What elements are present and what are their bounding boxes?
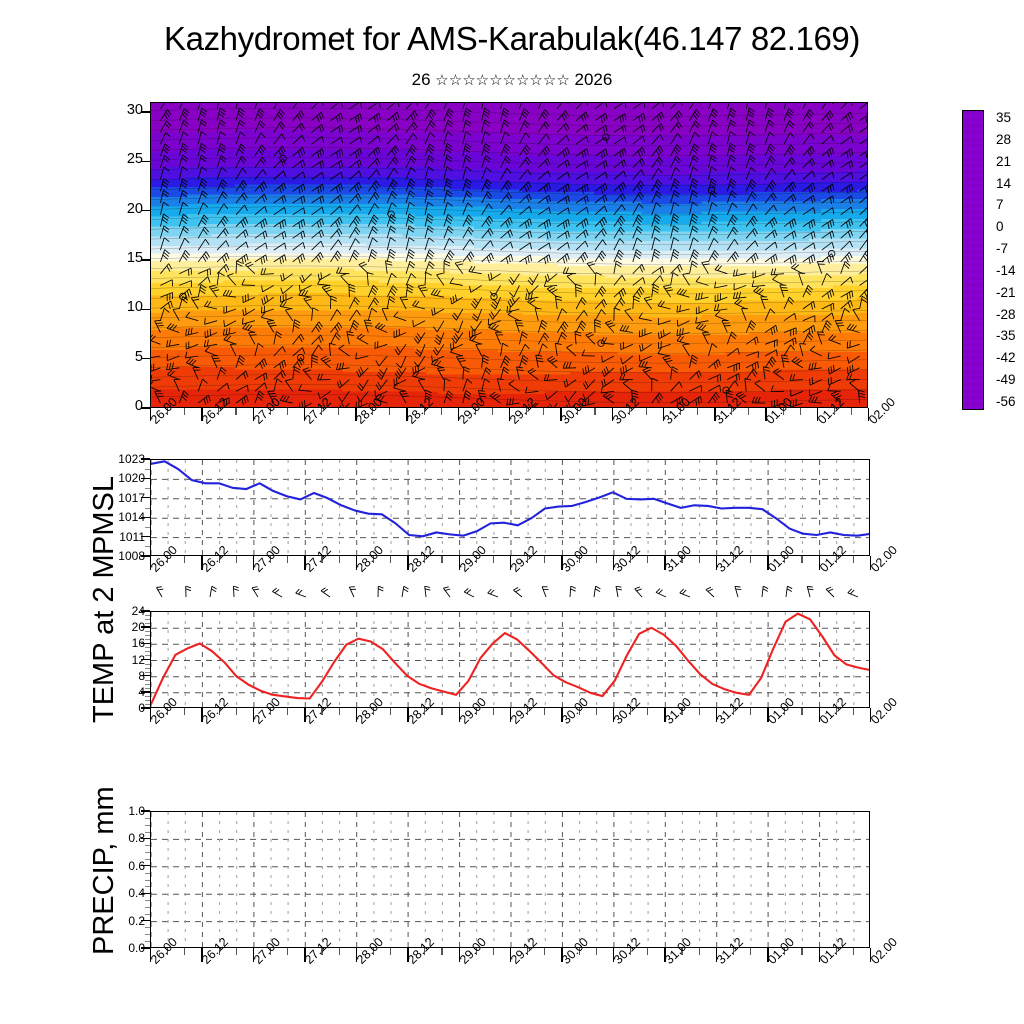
temp-2m-y-tick-minor-tick (145, 647, 150, 648)
colorbar-gradient (962, 110, 984, 410)
temp-2m-y-tick-minor-tick (145, 655, 150, 656)
precip-y-tick-minor-tick (145, 852, 150, 853)
precip-y-tick-minor-tick (145, 934, 150, 935)
precip-y-tick-minor-tick (145, 900, 150, 901)
temp-2m-y-tick-minor-tick (145, 680, 150, 681)
pmsl-y-tick-minor-tick (145, 508, 150, 509)
precip-y-tick-label: 0.8 (85, 832, 145, 844)
temp-2m-y-tick-minor-tick (145, 664, 150, 665)
temp-2m-y-tick-minor-tick (145, 631, 150, 632)
cross-section-x-tick-label: 02.00 (866, 395, 898, 427)
precip-y-tick-minor-tick (145, 941, 150, 942)
pmsl-y-tick-minor-tick (145, 469, 150, 470)
temp-2m-y-tick-minor-tick (145, 651, 150, 652)
temp-2m-y-tick-minor-tick (145, 672, 150, 673)
pmsl-panel (150, 459, 870, 556)
precip-x-tick-minor-tick (647, 948, 648, 955)
temp-panel-wind-barbs (150, 586, 870, 608)
cross-section-x-tick-minor-tick (235, 408, 236, 415)
precip-x-tick-minor-tick (853, 948, 854, 955)
pmsl-x-tick-minor-tick (596, 556, 597, 563)
precip-x-tick-minor-tick (390, 948, 391, 955)
cross-section-y-tick-label: 10 (83, 301, 143, 313)
precip-x-tick-minor-tick (750, 948, 751, 955)
pmsl-y-tick-minor-tick (145, 488, 150, 489)
precip-y-tick-minor-tick (145, 886, 150, 887)
temp-2m-x-tick-minor-tick (801, 708, 802, 715)
precip-y-tick-minor-tick (145, 880, 150, 881)
temp-2m-y-tick-minor-tick (145, 700, 150, 701)
colorbar-tick-5: 0 (996, 219, 1004, 234)
pmsl-y-tick-minor-tick (145, 527, 150, 528)
precip-y-tick-label: 0.0 (85, 942, 145, 954)
pmsl-y-tick-label: 1014 (85, 511, 145, 523)
cross-section-x-tick-minor-tick (697, 408, 698, 415)
temp-2m-x-tick-minor-tick (544, 708, 545, 715)
temp-2m-y-tick-label: 0 (85, 702, 145, 714)
precip-x-tick-minor-tick (801, 948, 802, 955)
precip-y-tick-label: 0.4 (85, 887, 145, 899)
cross-section-x-tick-minor-tick (851, 408, 852, 415)
pmsl-y-tick-label: 1017 (85, 492, 145, 504)
pmsl-x-tick-minor-tick (287, 556, 288, 563)
precip-x-tick-minor-tick (544, 948, 545, 955)
pmsl-x-tick-minor-tick (853, 556, 854, 563)
precip-x-tick-minor-tick (493, 948, 494, 955)
colorbar-tick-10: -35 (996, 328, 1016, 343)
pmsl-x-tick-minor-tick (801, 556, 802, 563)
colorbar-tick-11: -42 (996, 350, 1016, 365)
cross-section-y-tick-label: 15 (83, 252, 143, 264)
pmsl-x-tick-minor-tick (647, 556, 648, 563)
precip-x-tick-minor-tick (699, 948, 700, 955)
precip-y-tick-minor-tick (145, 907, 150, 908)
pmsl-y-tick-label: 1011 (85, 531, 145, 543)
cross-section-x-tick-minor-tick (184, 408, 185, 415)
temp-2m-x-tick-minor-tick (441, 708, 442, 715)
temp-2m-x-tick-minor-tick (853, 708, 854, 715)
temp-2m-x-tick-minor-tick (647, 708, 648, 715)
temp-panel (150, 611, 870, 708)
colorbar-tick-2: 21 (996, 154, 1011, 169)
temp-2m-x-tick-minor-tick (339, 708, 340, 715)
colorbar-band-overlay (963, 111, 983, 409)
precip-x-tick-minor-tick (339, 948, 340, 955)
precip-y-tick-minor-tick (145, 845, 150, 846)
precip-y-tick-minor-tick (145, 873, 150, 874)
forecast-meteogram-page: Kazhydromet for AMS-Karabulak(46.147 82.… (0, 0, 1024, 1024)
temp-2m-y-tick-minor-tick (145, 684, 150, 685)
temp-2m-y-tick-minor-tick (145, 688, 150, 689)
pmsl-y-tick-label: 1020 (85, 472, 145, 484)
cross-section-x-tick-minor-tick (441, 408, 442, 415)
precip-y-tick-label: 1.0 (85, 805, 145, 817)
colorbar-tick-6: -7 (996, 241, 1008, 256)
temp-2m-x-tick-minor-tick (699, 708, 700, 715)
colorbar-tick-8: -21 (996, 285, 1016, 300)
cross-section-x-tick-minor-tick (338, 408, 339, 415)
cross-section-x-tick-minor-tick (543, 408, 544, 415)
temp-2m-x-tick-minor-tick (287, 708, 288, 715)
cross-section-x-tick-minor-tick (800, 408, 801, 415)
temp-2m-y-tick-label: 24 (85, 605, 145, 617)
temp-2m-y-tick-label: 12 (85, 654, 145, 666)
pmsl-x-tick-minor-tick (699, 556, 700, 563)
temp-2m-y-tick-label: 8 (85, 670, 145, 682)
colorbar-tick-1: 28 (996, 132, 1011, 147)
precip-panel (150, 811, 870, 948)
pmsl-x-tick-minor-tick (184, 556, 185, 563)
temp-plot (151, 612, 870, 708)
colorbar-tick-3: 14 (996, 176, 1011, 191)
cross-section-x-tick-minor-tick (287, 408, 288, 415)
pmsl-plot (151, 460, 870, 556)
pmsl-x-tick-minor-tick (441, 556, 442, 563)
colorbar-tick-13: -56 (996, 394, 1016, 409)
precip-plot (151, 812, 870, 948)
pmsl-x-tick-label: 02.00 (868, 543, 900, 575)
pmsl-x-tick-minor-tick (493, 556, 494, 563)
colorbar-tick-4: 7 (996, 197, 1004, 212)
precip-x-tick-minor-tick (441, 948, 442, 955)
pmsl-y-tick-minor-tick (145, 546, 150, 547)
cross-section-x-tick-minor-tick (748, 408, 749, 415)
pmsl-x-tick-minor-tick (390, 556, 391, 563)
subtitle-day: 26 (412, 70, 431, 89)
precip-y-tick-minor-tick (145, 832, 150, 833)
precip-y-tick-label: 0.2 (85, 915, 145, 927)
page-title: Kazhydromet for AMS-Karabulak(46.147 82.… (0, 20, 1024, 58)
precip-y-tick-minor-tick (145, 818, 150, 819)
temp-2m-x-tick-minor-tick (390, 708, 391, 715)
temp-2m-y-tick-minor-tick (145, 635, 150, 636)
colorbar-tick-7: -14 (996, 263, 1016, 278)
precip-y-tick-minor-tick (145, 859, 150, 860)
precip-y-tick-minor-tick (145, 927, 150, 928)
cross-section-y-tick-label: 30 (83, 104, 143, 116)
pmsl-x-tick-minor-tick (544, 556, 545, 563)
temp-2m-x-tick-minor-tick (236, 708, 237, 715)
cross-section-y-tick-label: 0 (83, 400, 143, 412)
temp-2m-x-tick-minor-tick (596, 708, 597, 715)
cross-section-x-tick-minor-tick (646, 408, 647, 415)
temp-2m-x-tick-minor-tick (184, 708, 185, 715)
colorbar-tick-0: 35 (996, 110, 1011, 125)
cross-section-x-tick-minor-tick (594, 408, 595, 415)
pmsl-x-tick-minor-tick (750, 556, 751, 563)
temp-2m-y-tick-minor-tick (145, 704, 150, 705)
temp-2m-y-tick-label: 4 (85, 686, 145, 698)
temp-2m-y-tick-minor-tick (145, 696, 150, 697)
cross-section-y-tick-label: 25 (83, 153, 143, 165)
page-subtitle: 26 ☆☆☆☆☆☆☆☆☆☆ 2026 (0, 70, 1024, 90)
temp-2m-y-tick-minor-tick (145, 619, 150, 620)
cross-section-y-tick-label: 5 (83, 351, 143, 363)
subtitle-month-glyphs: ☆☆☆☆☆☆☆☆☆☆ (435, 72, 569, 89)
precip-x-tick-minor-tick (596, 948, 597, 955)
pmsl-y-tick-label: 1023 (85, 453, 145, 465)
precip-y-tick-minor-tick (145, 825, 150, 826)
precip-x-tick-minor-tick (287, 948, 288, 955)
colorbar-tick-9: -28 (996, 307, 1016, 322)
subtitle-year: 2026 (575, 70, 613, 89)
temperature-colorbar: 3528211470-7-14-21-28-35-42-49-56 (962, 110, 984, 410)
temp-2m-y-tick-label: 16 (85, 637, 145, 649)
pmsl-x-tick-minor-tick (339, 556, 340, 563)
temp-2m-x-tick-minor-tick (493, 708, 494, 715)
cross-section-plot (151, 103, 868, 408)
precip-x-tick-minor-tick (184, 948, 185, 955)
temp-2m-y-tick-minor-tick (145, 623, 150, 624)
precip-y-tick-minor-tick (145, 914, 150, 915)
upper-air-cross-section-panel (150, 102, 868, 408)
colorbar-tick-12: -49 (996, 372, 1016, 387)
cross-section-x-tick-minor-tick (389, 408, 390, 415)
precip-x-tick-minor-tick (236, 948, 237, 955)
temp-2m-y-tick-minor-tick (145, 615, 150, 616)
cross-section-x-tick-minor-tick (492, 408, 493, 415)
precip-y-tick-label: 0.6 (85, 860, 145, 872)
precip-x-tick-label: 02.00 (868, 935, 900, 967)
temp-2m-y-tick-minor-tick (145, 668, 150, 669)
temp-2m-x-tick-minor-tick (750, 708, 751, 715)
cross-section-y-tick-label: 20 (83, 203, 143, 215)
temp-2m-y-tick-label: 20 (85, 621, 145, 633)
temp-2m-y-tick-minor-tick (145, 639, 150, 640)
pmsl-x-tick-minor-tick (236, 556, 237, 563)
temp-2m-x-tick-label: 02.00 (868, 695, 900, 727)
